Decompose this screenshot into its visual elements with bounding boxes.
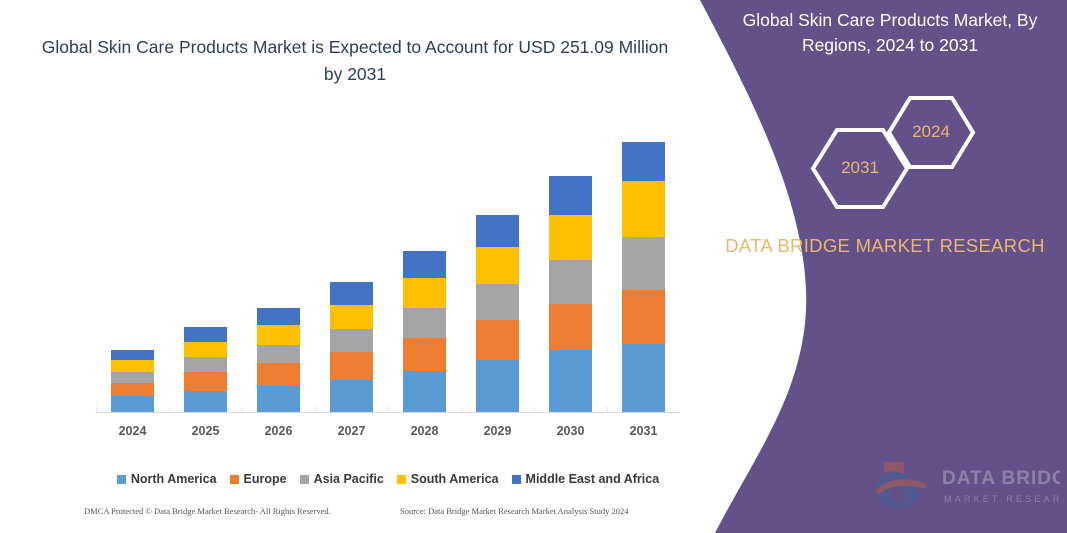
- legend-swatch-icon: [117, 475, 126, 484]
- bar-segment-2029-europe[interactable]: [476, 320, 519, 360]
- bar-segment-2024-south-america[interactable]: [111, 360, 154, 372]
- footer-copyright: DMCA Protected © Data Bridge Market Rese…: [84, 506, 331, 516]
- x-axis-gridline: [169, 407, 170, 413]
- infographic-canvas: Global Skin Care Products Market is Expe…: [0, 0, 1067, 533]
- logo-mark-icon: DATA BRIDGE MARKET RESEARCH: [870, 456, 1060, 518]
- bar-segment-2025-north-america[interactable]: [184, 391, 227, 412]
- purple-panel-content: Global Skin Care Products Market, By Reg…: [700, 0, 1067, 533]
- bar-segment-2028-asia-pacific[interactable]: [403, 308, 446, 337]
- bar-chart-plot-area: [96, 120, 680, 413]
- legend-label: South America: [411, 472, 499, 486]
- x-axis-gridline: [534, 407, 535, 413]
- x-axis-label-2030: 2030: [536, 424, 606, 438]
- svg-text:DATA BRIDGE: DATA BRIDGE: [942, 468, 1060, 489]
- bar-segment-2030-middle-east-and-africa[interactable]: [549, 176, 592, 215]
- legend-item-north-america[interactable]: North America: [117, 472, 217, 486]
- bar-segment-2027-asia-pacific[interactable]: [330, 329, 373, 352]
- legend-item-middle-east-and-africa[interactable]: Middle East and Africa: [512, 472, 660, 486]
- x-axis-label-2029: 2029: [463, 424, 533, 438]
- footer-source: Source: Data Bridge Market Research Mark…: [400, 506, 629, 516]
- x-axis-label-2026: 2026: [244, 424, 314, 438]
- bar-segment-2030-south-america[interactable]: [549, 215, 592, 260]
- legend-swatch-icon: [300, 475, 309, 484]
- bar-2031[interactable]: [622, 142, 665, 413]
- bar-segment-2024-middle-east-and-africa[interactable]: [111, 350, 154, 361]
- bar-segment-2028-europe[interactable]: [403, 338, 446, 371]
- bar-2025[interactable]: [184, 327, 227, 412]
- x-axis-label-2027: 2027: [317, 424, 387, 438]
- x-axis-gridline: [315, 407, 316, 413]
- bar-segment-2031-europe[interactable]: [622, 290, 665, 344]
- bar-segment-2024-north-america[interactable]: [111, 396, 154, 412]
- x-axis-label-2028: 2028: [390, 424, 460, 438]
- legend-item-asia-pacific[interactable]: Asia Pacific: [300, 472, 384, 486]
- legend-label: Middle East and Africa: [526, 472, 660, 486]
- bar-segment-2026-asia-pacific[interactable]: [257, 345, 300, 364]
- bar-segment-2026-europe[interactable]: [257, 363, 300, 385]
- bar-2030[interactable]: [549, 176, 592, 412]
- bar-segment-2030-europe[interactable]: [549, 304, 592, 351]
- bar-segment-2025-europe[interactable]: [184, 372, 227, 391]
- bar-segment-2030-north-america[interactable]: [549, 350, 592, 412]
- bar-segment-2031-middle-east-and-africa[interactable]: [622, 142, 665, 181]
- x-axis-gridline: [242, 407, 243, 413]
- x-axis-label-2024: 2024: [98, 424, 168, 438]
- bar-segment-2029-asia-pacific[interactable]: [476, 284, 519, 320]
- bar-segment-2029-south-america[interactable]: [476, 247, 519, 284]
- bar-segment-2025-asia-pacific[interactable]: [184, 357, 227, 372]
- legend-swatch-icon: [397, 475, 406, 484]
- hexagon-badge-2024: 2024: [886, 95, 976, 170]
- bar-segment-2030-asia-pacific[interactable]: [549, 260, 592, 304]
- panel-title: Global Skin Care Products Market, By Reg…: [730, 8, 1050, 58]
- legend-item-europe[interactable]: Europe: [230, 472, 287, 486]
- hexagon-badges: 2031 2024: [810, 95, 1000, 210]
- x-axis-tick-labels: 20242025202620272028202920302031: [96, 424, 680, 442]
- bar-segment-2026-middle-east-and-africa[interactable]: [257, 308, 300, 326]
- chart-legend: North AmericaEuropeAsia PacificSouth Ame…: [96, 472, 680, 486]
- brand-name: DATA BRIDGE MARKET RESEARCH: [720, 232, 1050, 260]
- bar-segment-2031-asia-pacific[interactable]: [622, 237, 665, 290]
- bar-segment-2024-asia-pacific[interactable]: [111, 372, 154, 383]
- legend-item-south-america[interactable]: South America: [397, 472, 499, 486]
- x-axis-gridline: [607, 407, 608, 413]
- bar-segment-2026-north-america[interactable]: [257, 386, 300, 412]
- bar-segment-2026-south-america[interactable]: [257, 325, 300, 345]
- bar-segment-2025-south-america[interactable]: [184, 342, 227, 358]
- data-bridge-watermark-logo: DATA BRIDGE MARKET RESEARCH: [870, 456, 1060, 518]
- legend-label: Europe: [244, 472, 287, 486]
- x-axis-label-2025: 2025: [171, 424, 241, 438]
- bar-segment-2024-europe[interactable]: [111, 383, 154, 397]
- bar-segment-2025-middle-east-and-africa[interactable]: [184, 327, 227, 342]
- bar-2027[interactable]: [330, 282, 373, 412]
- bar-segment-2031-south-america[interactable]: [622, 181, 665, 238]
- hexagon-label-2024: 2024: [886, 122, 976, 142]
- bar-segment-2027-middle-east-and-africa[interactable]: [330, 282, 373, 304]
- bar-segment-2029-middle-east-and-africa[interactable]: [476, 215, 519, 247]
- legend-swatch-icon: [230, 475, 239, 484]
- bar-2026[interactable]: [257, 308, 300, 412]
- svg-text:MARKET RESEARCH: MARKET RESEARCH: [944, 494, 1060, 504]
- bar-segment-2028-south-america[interactable]: [403, 278, 446, 308]
- legend-label: Asia Pacific: [314, 472, 384, 486]
- bar-2029[interactable]: [476, 215, 519, 412]
- bar-segment-2027-south-america[interactable]: [330, 305, 373, 329]
- footer: DMCA Protected © Data Bridge Market Rese…: [0, 506, 690, 526]
- x-axis-gridline: [461, 407, 462, 413]
- bar-segment-2028-middle-east-and-africa[interactable]: [403, 251, 446, 278]
- bar-segment-2031-north-america[interactable]: [622, 344, 665, 412]
- legend-swatch-icon: [512, 475, 521, 484]
- page-title: Global Skin Care Products Market is Expe…: [40, 34, 670, 88]
- x-axis-gridline: [388, 407, 389, 413]
- legend-label: North America: [131, 472, 217, 486]
- bar-segment-2029-north-america[interactable]: [476, 360, 519, 412]
- bar-segment-2027-north-america[interactable]: [330, 380, 373, 412]
- bar-segment-2027-europe[interactable]: [330, 352, 373, 379]
- bar-2028[interactable]: [403, 251, 446, 412]
- bar-segment-2028-north-america[interactable]: [403, 371, 446, 412]
- x-axis-gridline: [96, 407, 97, 413]
- bar-2024[interactable]: [111, 350, 154, 412]
